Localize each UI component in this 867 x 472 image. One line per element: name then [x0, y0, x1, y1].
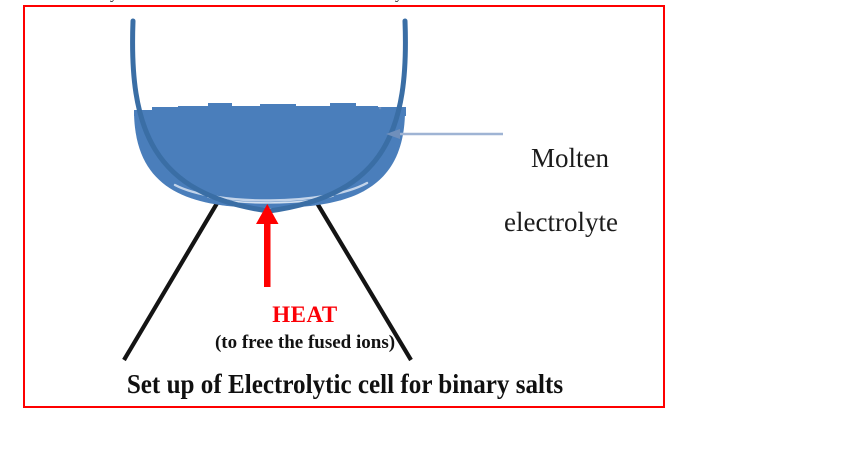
- electrolyte-surface-steps: [134, 103, 406, 116]
- molten-electrolyte-label-line1: Molten: [531, 143, 609, 173]
- figure-caption: Set up of Electrolytic cell for binary s…: [57, 369, 634, 400]
- molten-electrolyte-label-line2: electrolyte: [504, 207, 618, 239]
- electrolyte-body: [134, 112, 405, 208]
- molten-electrolyte-label: Molten electrolyte: [504, 111, 618, 302]
- clipped-header-fragment-left: y: [110, 0, 118, 4]
- figure-frame: Molten electrolyte HEAT (to free the fus…: [23, 5, 665, 408]
- stray-dot-artifact: [379, 107, 381, 109]
- heat-label: HEAT: [25, 301, 585, 328]
- heat-arrow-icon: [256, 204, 279, 287]
- molten-electrolyte-liquid: [134, 103, 406, 208]
- clipped-header-fragment-right: y: [395, 0, 403, 4]
- heat-sublabel: (to free the fused ions): [25, 332, 585, 354]
